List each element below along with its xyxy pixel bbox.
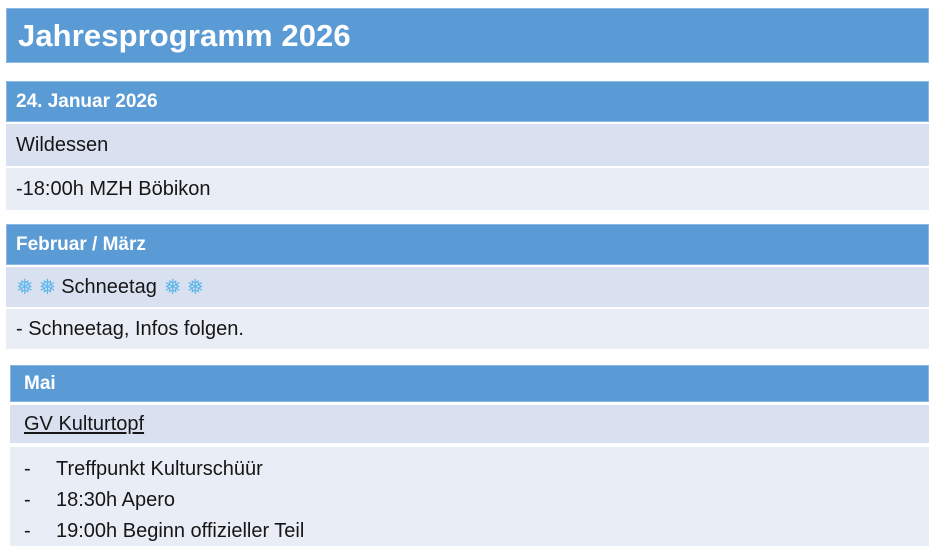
- bullet-dash: -: [24, 454, 56, 485]
- snowflake-icon: ❅: [164, 277, 182, 298]
- bullet-dash: -: [24, 485, 56, 516]
- list-item-label: 19:00h Beginn offizieller Teil: [56, 516, 304, 547]
- jahresprogramm-page: Jahresprogramm 2026 24. Januar 2026 Wild…: [0, 0, 940, 556]
- section-januar-row-title: Wildessen: [6, 124, 929, 166]
- page-title: Jahresprogramm 2026: [6, 18, 351, 54]
- snowflake-icon: ❅: [16, 277, 34, 298]
- list-item-label: 18:30h Apero: [56, 485, 175, 516]
- section-header-februar-maerz-label: Februar / März: [6, 234, 146, 256]
- section-header-mai-label: Mai: [10, 373, 56, 395]
- list-item: - Treffpunkt Kulturschüür: [24, 454, 929, 485]
- section-januar-row-detail: -18:00h MZH Böbikon: [6, 168, 929, 210]
- list-item-label: Treffpunkt Kulturschüür: [56, 454, 263, 485]
- section-januar-row-title-label: Wildessen: [6, 134, 108, 157]
- snowflake-icon: ❅: [186, 277, 204, 298]
- list-item: - 19:00h Beginn offizieller Teil: [24, 516, 929, 547]
- section-header-mai: Mai: [10, 365, 929, 402]
- section-mai-row-title-label: GV Kulturtopf: [10, 413, 144, 436]
- page-title-band: Jahresprogramm 2026: [6, 8, 929, 63]
- list-item: - 18:30h Apero: [24, 485, 929, 516]
- section-februar-row-title: ❅ ❅ Schneetag ❅ ❅: [6, 267, 929, 307]
- section-header-januar: 24. Januar 2026: [6, 81, 929, 122]
- snowflake-icon: ❅: [39, 277, 57, 298]
- section-mai-row-title: GV Kulturtopf: [10, 405, 929, 443]
- section-header-februar-maerz: Februar / März: [6, 224, 929, 265]
- section-februar-row-detail: - Schneetag, Infos folgen.: [6, 309, 929, 349]
- section-januar-row-detail-label: -18:00h MZH Böbikon: [6, 178, 211, 201]
- section-mai-bullet-list: - Treffpunkt Kulturschüür - 18:30h Apero…: [10, 447, 929, 546]
- bullet-dash: -: [24, 516, 56, 547]
- section-februar-row-title-label: Schneetag: [61, 276, 157, 299]
- section-februar-row-detail-label: - Schneetag, Infos folgen.: [6, 318, 244, 341]
- section-header-januar-label: 24. Januar 2026: [6, 91, 158, 113]
- schneetag-line: ❅ ❅ Schneetag ❅ ❅: [6, 276, 204, 299]
